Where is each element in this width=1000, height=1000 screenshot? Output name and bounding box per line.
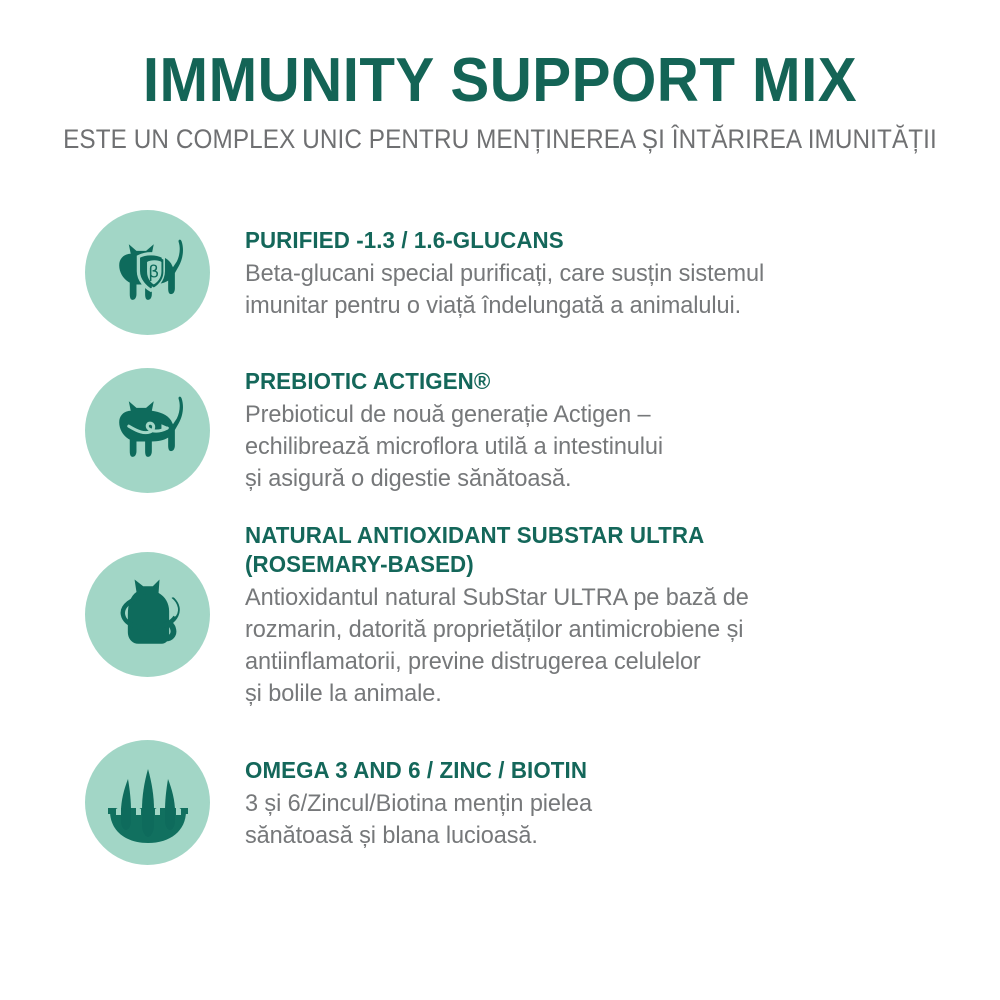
infographic-page: IMMUNITY SUPPORT MIX ESTE UN COMPLEX UNI… bbox=[0, 0, 1000, 1000]
feature-text: OMEGA 3 AND 6 / ZINC / BIOTIN 3 și 6/Zin… bbox=[210, 754, 1000, 852]
feature-heading: PURIFIED -1.3 / 1.6-GLUCANS bbox=[245, 226, 977, 255]
feature-heading: PREBIOTIC ACTIGEN® bbox=[245, 367, 977, 396]
cat-shield-beta-icon: β bbox=[85, 210, 210, 335]
page-subtitle: ESTE UN COMPLEX UNIC PENTRU MENȚINEREA Ș… bbox=[50, 124, 950, 154]
svg-text:β: β bbox=[148, 262, 159, 282]
feature-list: β PURIFIED -1.3 / 1.6-GLUCANS Beta-gluca… bbox=[0, 210, 1000, 865]
cat-antioxidant-swirl-icon bbox=[85, 552, 210, 677]
feature-body: Antioxidantul natural SubStar ULTRA pe b… bbox=[245, 582, 970, 710]
header: IMMUNITY SUPPORT MIX ESTE UN COMPLEX UNI… bbox=[0, 48, 1000, 154]
feature-item-omega: OMEGA 3 AND 6 / ZINC / BIOTIN 3 și 6/Zin… bbox=[0, 740, 1000, 865]
feature-heading: NATURAL ANTIOXIDANT SUBSTAR ULTRA (ROSEM… bbox=[245, 521, 977, 579]
feature-item-antioxidant: NATURAL ANTIOXIDANT SUBSTAR ULTRA (ROSEM… bbox=[0, 519, 1000, 710]
page-title: IMMUNITY SUPPORT MIX bbox=[30, 48, 970, 114]
feature-heading: OMEGA 3 AND 6 / ZINC / BIOTIN bbox=[245, 756, 977, 785]
feature-body: Beta-glucani special purificați, care su… bbox=[245, 258, 970, 322]
feature-text: PREBIOTIC ACTIGEN® Prebioticul de nouă g… bbox=[210, 365, 1000, 495]
feature-body: Prebioticul de nouă generație Actigen – … bbox=[245, 399, 970, 495]
feature-item-prebiotic: PREBIOTIC ACTIGEN® Prebioticul de nouă g… bbox=[0, 365, 1000, 495]
hair-follicle-skin-icon bbox=[85, 740, 210, 865]
feature-icon-wrap bbox=[85, 552, 210, 677]
feature-text: NATURAL ANTIOXIDANT SUBSTAR ULTRA (ROSEM… bbox=[210, 519, 1000, 710]
feature-icon-wrap bbox=[85, 368, 210, 493]
feature-icon-wrap bbox=[85, 740, 210, 865]
feature-icon-wrap: β bbox=[85, 210, 210, 335]
cat-digestion-arrow-icon bbox=[85, 368, 210, 493]
feature-body: 3 și 6/Zincul/Biotina mențin pielea sănă… bbox=[245, 788, 970, 852]
feature-text: PURIFIED -1.3 / 1.6-GLUCANS Beta-glucani… bbox=[210, 224, 1000, 322]
feature-item-glucans: β PURIFIED -1.3 / 1.6-GLUCANS Beta-gluca… bbox=[0, 210, 1000, 335]
